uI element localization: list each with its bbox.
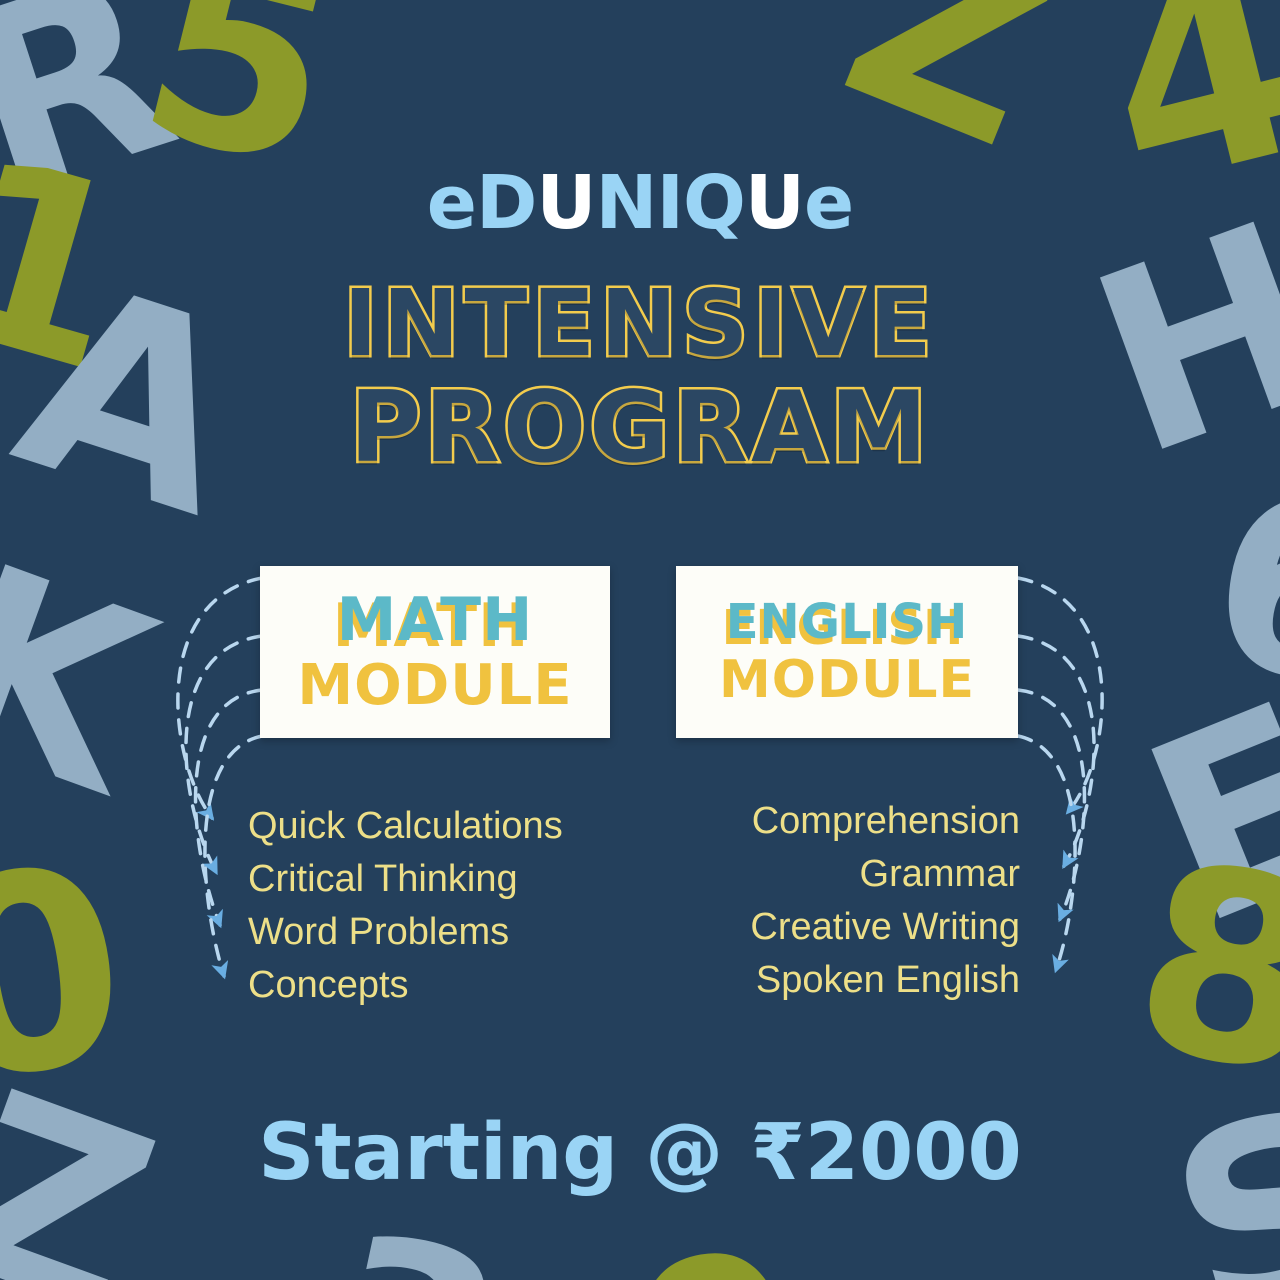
headline: INTENSIVE PROGRAM <box>0 272 1280 480</box>
price-banner: Starting @ ₹2000 <box>0 1108 1280 1198</box>
brand-logo-segment: eD <box>427 160 537 246</box>
brand-logo: eDUNIQUe <box>0 160 1280 246</box>
feature-item: Concepts <box>248 959 608 1012</box>
module-card-math[interactable]: MATH MODULE <box>260 566 610 738</box>
feature-item: Quick Calculations <box>248 800 608 853</box>
module-title-english-bottom: MODULE <box>719 654 975 706</box>
feature-item: Word Problems <box>248 906 608 959</box>
brand-logo-segment: U <box>536 160 595 246</box>
feature-item: Comprehension <box>700 795 1020 848</box>
brand-logo-segment: U <box>745 160 804 246</box>
feature-item: Creative Writing <box>700 901 1020 954</box>
module-title-math-top: MATH <box>337 590 534 650</box>
module-title-english-top: ENGLISH <box>726 598 969 646</box>
brand-logo-segment: NIQ <box>596 160 745 246</box>
brand-logo-segment: e <box>804 160 853 246</box>
feature-list-math: Quick Calculations Critical Thinking Wor… <box>248 800 608 1012</box>
module-title-math-bottom: MODULE <box>297 658 572 714</box>
feature-list-english: Comprehension Grammar Creative Writing S… <box>700 795 1020 1007</box>
feature-item: Spoken English <box>700 954 1020 1007</box>
feature-item: Grammar <box>700 848 1020 901</box>
module-card-english[interactable]: ENGLISH MODULE <box>676 566 1018 738</box>
feature-item: Critical Thinking <box>248 853 608 906</box>
headline-line-2: PROGRAM <box>0 376 1280 480</box>
headline-line-1: INTENSIVE <box>0 272 1280 376</box>
poster-stage: eDUNIQUe INTENSIVE PROGRAM MATH MODULE E… <box>0 0 1280 1280</box>
